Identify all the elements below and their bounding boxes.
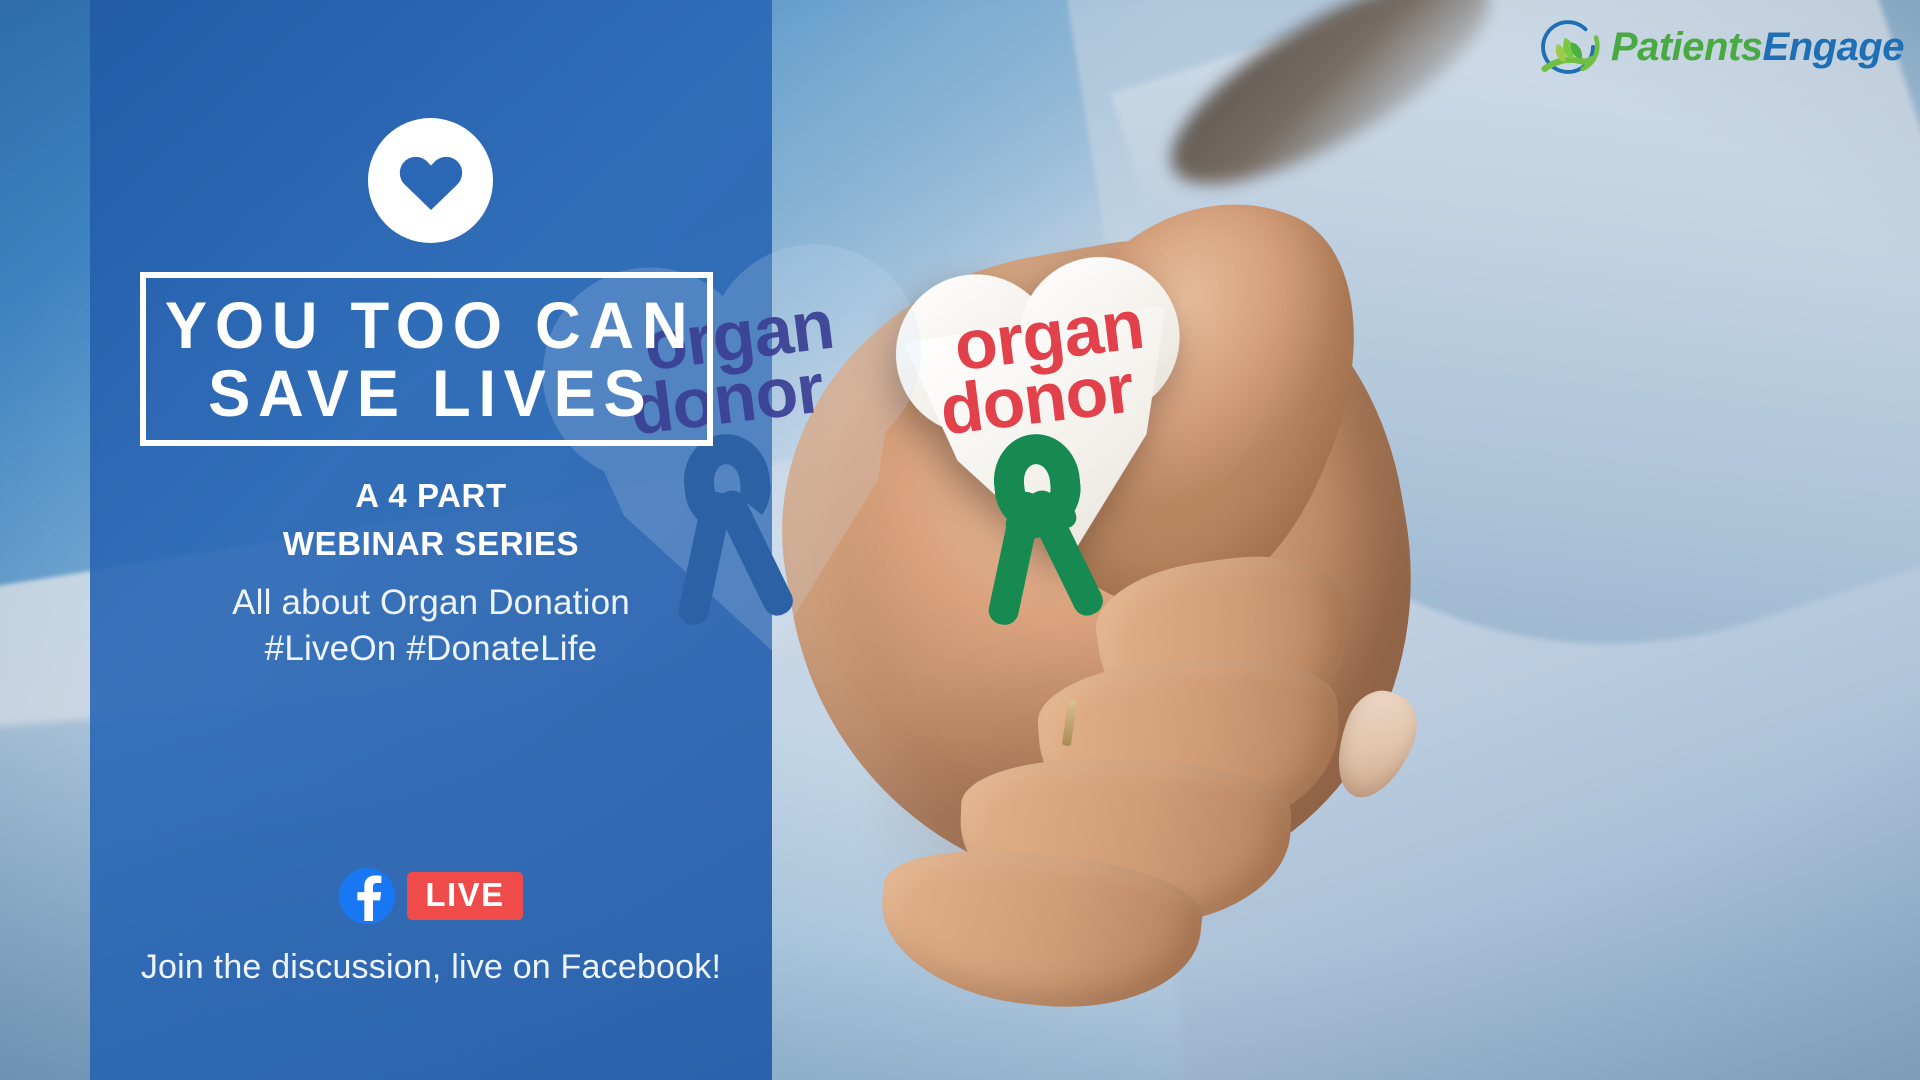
logo-wordmark: PatientsEngage — [1611, 27, 1904, 67]
leaf-hand-circle-icon — [1529, 8, 1607, 86]
headline: YOU TOO CAN SAVE LIVES — [140, 268, 713, 450]
cta-text: Join the discussion, live on Facebook! — [90, 948, 772, 987]
heart-icon — [397, 150, 465, 212]
headline-line-2: SAVE LIVES — [200, 360, 653, 426]
heart-badge — [368, 118, 493, 243]
facebook-f-icon[interactable] — [339, 868, 395, 924]
facebook-live-row: LIVE — [90, 868, 772, 924]
logo-word-engage: Engage — [1763, 25, 1904, 69]
subheading-block: A 4 PART WEBINAR SERIES All about Organ … — [90, 472, 772, 673]
poster-content: YOU TOO CAN SAVE LIVES A 4 PART WEBINAR … — [90, 0, 772, 1080]
patientsengage-logo[interactable]: PatientsEngage — [1529, 8, 1904, 86]
subheading-line-1: A 4 PART — [90, 472, 772, 520]
promotional-poster: organ donor organ donor — [0, 0, 1920, 1080]
live-badge[interactable]: LIVE — [407, 872, 522, 920]
subheading-line-2: WEBINAR SERIES — [90, 520, 772, 568]
description-line-1: All about Organ Donation — [90, 580, 772, 627]
description-line-2: #LiveOn #DonateLife — [90, 626, 772, 673]
logo-word-patients: Patients — [1611, 25, 1763, 69]
headline-line-1: YOU TOO CAN — [157, 292, 695, 358]
